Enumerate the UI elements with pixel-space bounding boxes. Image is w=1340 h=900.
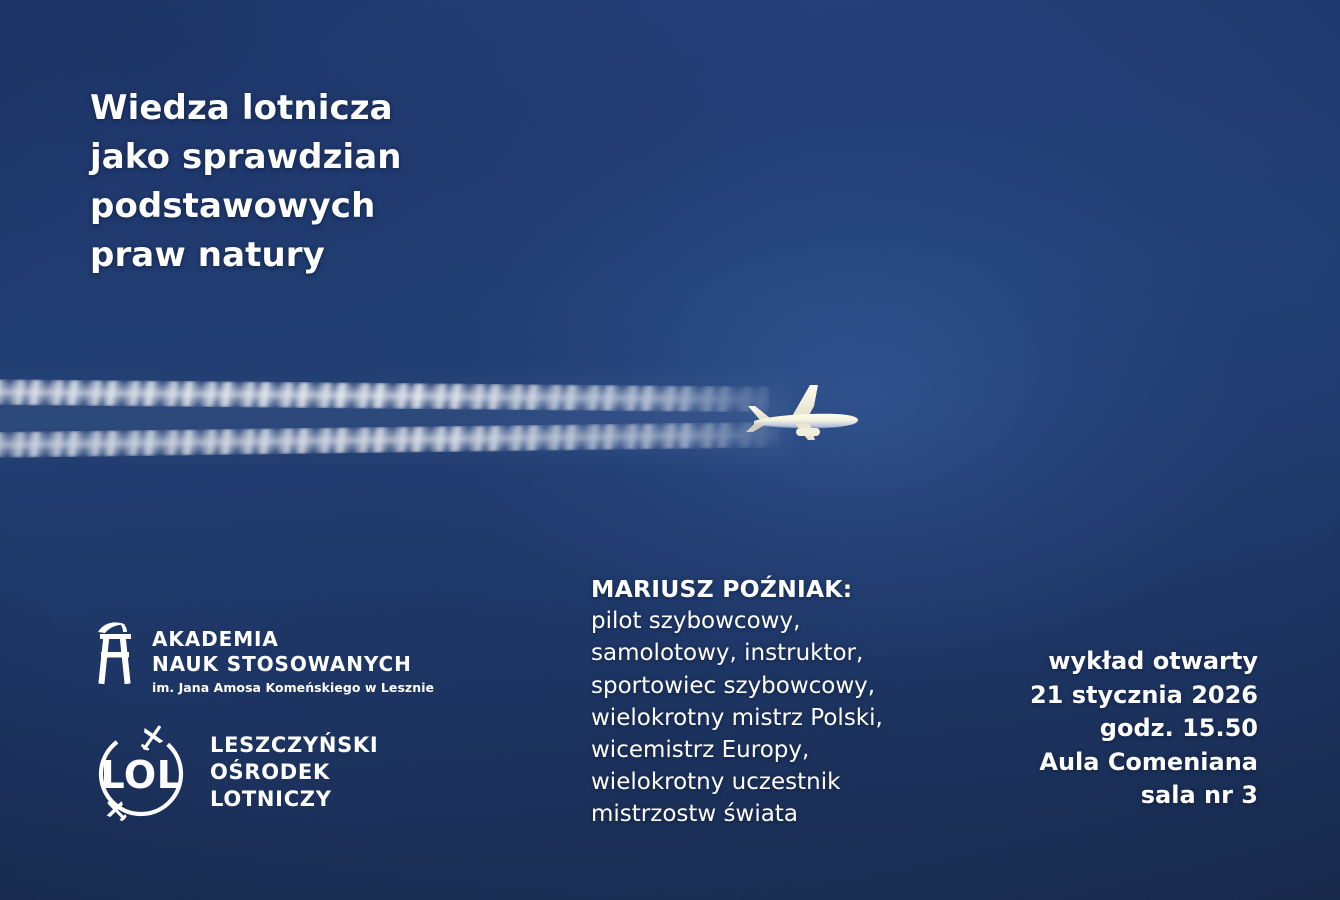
title-line-1: Wiedza lotnicza (90, 84, 402, 133)
aviation-center-logo: LOL LESZCZYŃSKI OŚRODEK LOTNICZY (88, 718, 378, 826)
title-line-3: podstawowych (90, 182, 402, 231)
event-time: godz. 15.50 (1030, 712, 1258, 746)
speaker-credential: wicemistrz Europy, (591, 734, 883, 766)
speaker-credential: sportowiec szybowcowy, (591, 670, 883, 702)
speaker-credential: wielokrotny mistrz Polski, (591, 702, 883, 734)
academy-name-line-1: AKADEMIA (152, 627, 279, 651)
page-title: Wiedza lotnicza jako sprawdzian podstawo… (90, 84, 402, 280)
academy-logo: AKADEMIA NAUK STOSOWANYCH im. Jana Amosa… (92, 614, 434, 697)
lol-monogram: LOL (101, 753, 182, 797)
title-line-4: praw natury (90, 231, 402, 280)
title-line-2: jako sprawdzian (90, 133, 402, 182)
speaker-credential: samolotowy, instruktor, (591, 637, 883, 669)
speaker-credential: mistrzostw świata (591, 798, 883, 830)
poster: Wiedza lotnicza jako sprawdzian podstawo… (0, 0, 1340, 900)
speaker-block: MARIUSZ POŹNIAK: pilot szybowcowy, samol… (591, 573, 883, 831)
speaker-credential: wielokrotny uczestnik (591, 766, 883, 798)
event-details-block: wykład otwarty 21 stycznia 2026 godz. 15… (1030, 645, 1258, 813)
event-date: 21 stycznia 2026 (1030, 679, 1258, 713)
speaker-credential: pilot szybowcowy, (591, 605, 883, 637)
academy-logo-text: AKADEMIA NAUK STOSOWANYCH im. Jana Amosa… (152, 614, 434, 697)
aviation-center-line-2: OŚRODEK (210, 759, 378, 786)
airplane-icon (744, 372, 872, 462)
event-venue: Aula Comeniana (1030, 746, 1258, 780)
speaker-name: MARIUSZ POŹNIAK: (591, 573, 883, 605)
academy-subtitle: im. Jana Amosa Komeńskiego w Lesznie (152, 679, 434, 697)
aviation-center-line-3: LOTNICZY (210, 786, 378, 813)
academy-name-line-2: NAUK STOSOWANYCH (152, 652, 412, 676)
event-room: sala nr 3 (1030, 779, 1258, 813)
event-type: wykład otwarty (1030, 645, 1258, 679)
lol-circle-plane-icon: LOL (88, 718, 194, 826)
akademia-a-mark-icon (92, 614, 138, 688)
aviation-center-line-1: LESZCZYŃSKI (210, 732, 378, 759)
aviation-center-logo-text: LESZCZYŃSKI OŚRODEK LOTNICZY (210, 732, 378, 813)
